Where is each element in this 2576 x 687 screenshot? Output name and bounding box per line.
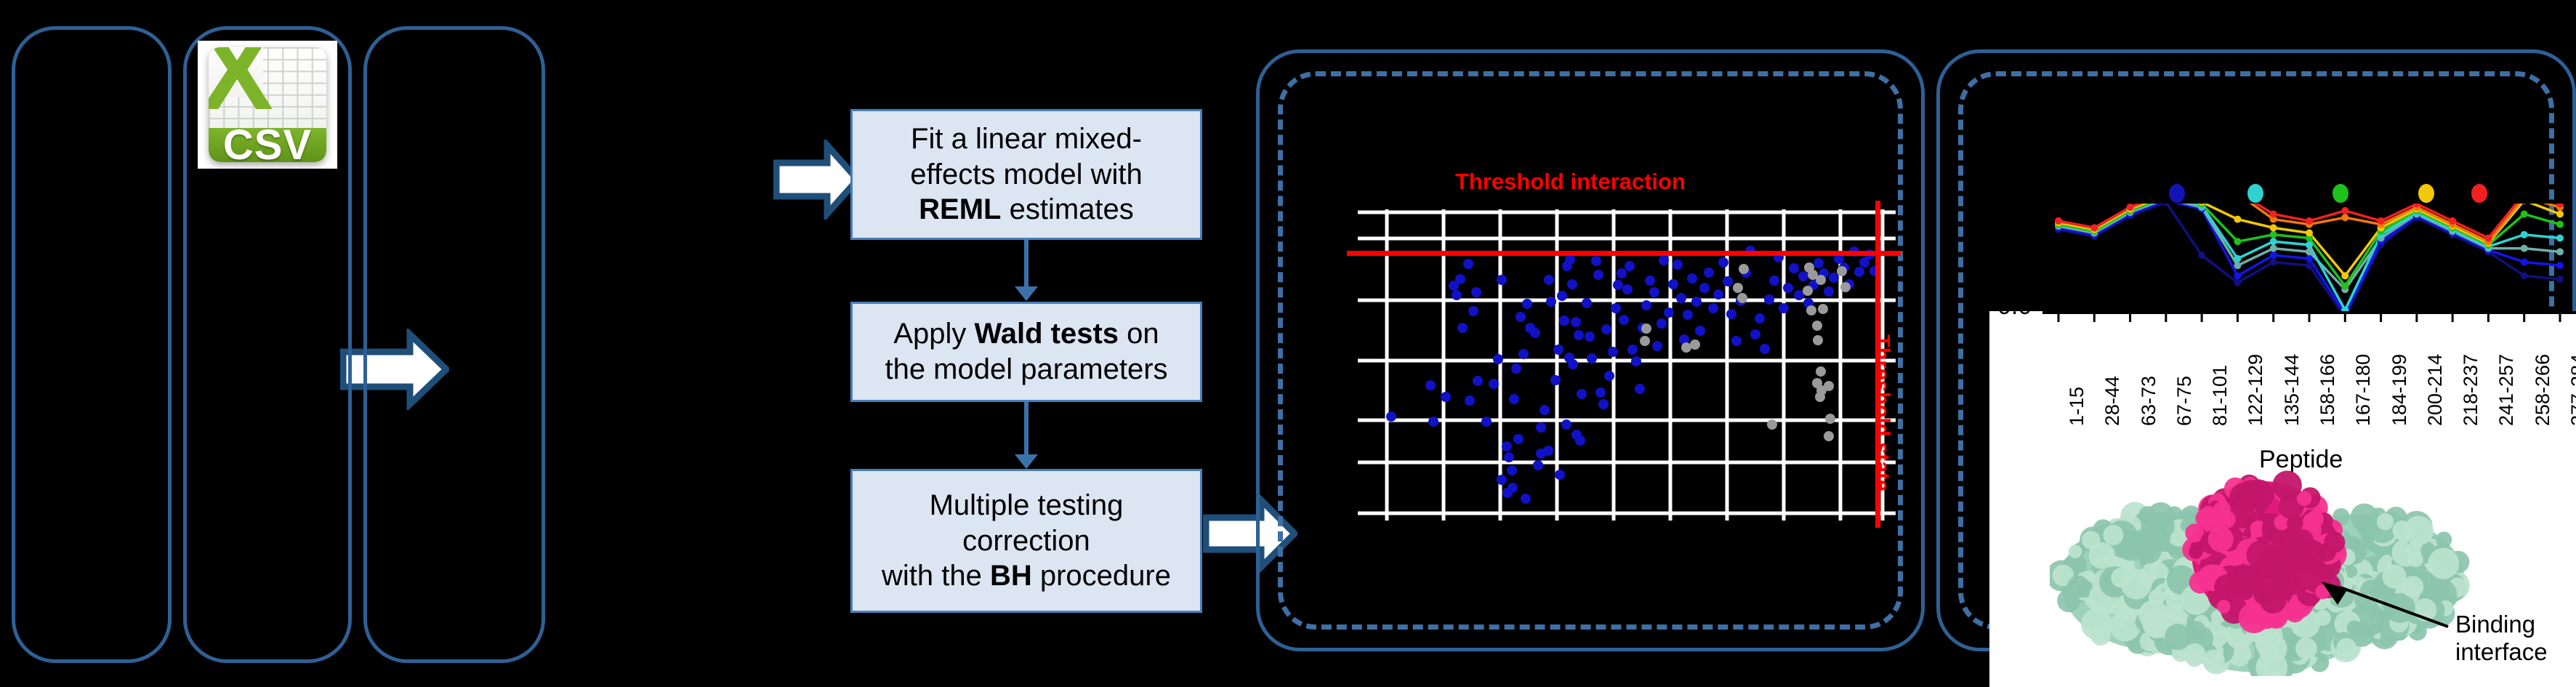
connector-2-head — [1015, 454, 1038, 469]
x-tick-label: 158-166 — [2317, 354, 2339, 426]
y-axis-label: 0.0 — [1997, 292, 2032, 321]
input-panel — [12, 26, 172, 663]
x-tick-label: 1-15 — [2066, 387, 2088, 426]
x-tick-label: 184-199 — [2388, 354, 2411, 426]
binding-interface-text: Binding interface — [2455, 611, 2548, 665]
csv-label: CSV — [223, 121, 312, 162]
volcano-scatter-plot — [1358, 209, 1896, 521]
x-tick-label: 135-144 — [2281, 354, 2303, 426]
x-tick-label: 241-257 — [2495, 354, 2518, 426]
threshold-state-label: Threshold state — [1869, 334, 1893, 491]
legend-dot-1 — [2169, 184, 2185, 203]
volcano-title: Threshold interaction — [1455, 169, 1686, 195]
x-tick-label: 167-180 — [2352, 354, 2375, 426]
x-tick-label: 122-129 — [2245, 354, 2267, 426]
csv-band: CSV — [209, 128, 326, 163]
connector-2 — [1024, 402, 1029, 456]
x-axis-ticks — [2042, 311, 2576, 323]
arrow-to-analysis — [773, 140, 861, 220]
x-tick-label: 81-101 — [2209, 365, 2231, 426]
x-tick-label: 218-237 — [2460, 354, 2482, 426]
x-tick-label: 28-44 — [2101, 376, 2124, 426]
threshold-interaction-line — [1347, 251, 1901, 256]
csv-card: X CSV — [209, 47, 326, 162]
x-tick-label: 63-73 — [2138, 376, 2160, 426]
connector-1 — [1024, 240, 1029, 288]
analysis-panel — [363, 26, 545, 663]
x-axis-tick-labels: 1-1528-4463-7367-7581-101122-129135-1441… — [2042, 324, 2576, 433]
binding-interface-label: Binding interface — [2455, 611, 2548, 666]
x-tick-label: 200-214 — [2424, 354, 2447, 426]
legend-dot-3 — [2333, 184, 2348, 203]
peptide-line-chart — [2042, 204, 2576, 314]
excel-x-glyph: X — [209, 47, 267, 103]
connector-1-head — [1015, 286, 1038, 301]
legend-dot-4 — [2418, 184, 2434, 203]
protein-structure-image — [2050, 451, 2515, 676]
csv-file-icon: X CSV — [198, 41, 337, 169]
legend-dot-5 — [2471, 184, 2487, 203]
x-tick-label: 258-266 — [2532, 354, 2554, 426]
step-bh-correction: Multiple testingcorrectionwith the BH pr… — [850, 469, 1202, 613]
binding-interface-arrow — [2319, 582, 2450, 632]
x-tick-label: 67-75 — [2173, 376, 2196, 426]
step-wald-tests: Apply Wald tests onthe model parameters — [850, 302, 1202, 402]
legend-dot-2 — [2247, 184, 2263, 203]
step-fit-model: Fit a linear mixed-effects model withREM… — [850, 109, 1202, 240]
x-tick-label: 277-284 — [2567, 354, 2576, 426]
